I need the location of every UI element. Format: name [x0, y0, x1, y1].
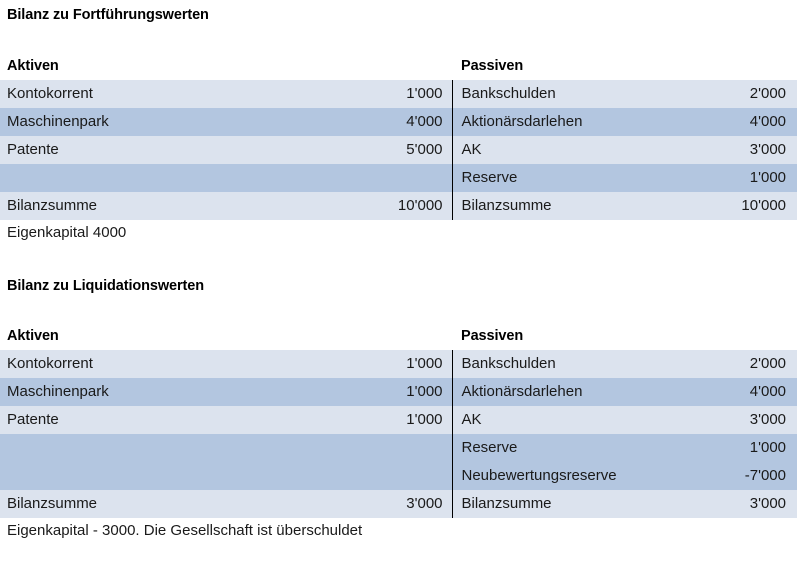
asset-label: Patente: [0, 136, 340, 164]
liability-label: Aktionärsdarlehen: [452, 378, 682, 406]
liability-value: 2'000: [682, 80, 797, 108]
assets-total-label: Bilanzsumme: [0, 192, 340, 220]
asset-value: 1'000: [340, 378, 452, 406]
section-1-title-gap: [0, 23, 797, 53]
liability-label: Aktionärsdarlehen: [452, 108, 682, 136]
assets-header-value: [340, 53, 452, 80]
asset-label: [0, 434, 340, 462]
liabilities-header: Passiven: [452, 323, 682, 350]
balance-table-fortfuehrungswerte: Aktiven Passiven Kontokorrent 1'000 Bank…: [0, 53, 797, 220]
liability-label: Bankschulden: [452, 80, 682, 108]
table-header-row: Aktiven Passiven: [0, 323, 797, 350]
liability-value: 3'000: [682, 406, 797, 434]
assets-total-value: 10'000: [340, 192, 452, 220]
table-header-row: Aktiven Passiven: [0, 53, 797, 80]
liability-value: 4'000: [682, 108, 797, 136]
liability-label: Neubewertungsreserve: [452, 462, 682, 490]
assets-header: Aktiven: [0, 323, 340, 350]
table-row: Patente 1'000 AK 3'000: [0, 406, 797, 434]
assets-total-label: Bilanzsumme: [0, 490, 340, 518]
liabilities-total-value: 10'000: [682, 192, 797, 220]
asset-value: [340, 434, 452, 462]
asset-label: Kontokorrent: [0, 350, 340, 378]
liability-label: Reserve: [452, 434, 682, 462]
asset-label: Maschinenpark: [0, 108, 340, 136]
assets-total-value: 3'000: [340, 490, 452, 518]
table-row: Maschinenpark 4'000 Aktionärsdarlehen 4'…: [0, 108, 797, 136]
liability-label: Reserve: [452, 164, 682, 192]
asset-value: [340, 462, 452, 490]
table-total-row: Bilanzsumme 10'000 Bilanzsumme 10'000: [0, 192, 797, 220]
liabilities-header-value: [682, 53, 797, 80]
liabilities-header-value: [682, 323, 797, 350]
asset-label: Patente: [0, 406, 340, 434]
liability-label: Bankschulden: [452, 350, 682, 378]
liability-label: AK: [452, 406, 682, 434]
equity-note-fortfuehrungswerte: Eigenkapital 4000: [0, 220, 797, 245]
asset-value: 1'000: [340, 406, 452, 434]
balance-table-liquidationswerte: Aktiven Passiven Kontokorrent 1'000 Bank…: [0, 323, 797, 518]
asset-label: Maschinenpark: [0, 378, 340, 406]
liabilities-total-label: Bilanzsumme: [452, 490, 682, 518]
asset-label: Kontokorrent: [0, 80, 340, 108]
asset-value: [340, 164, 452, 192]
asset-value: 1'000: [340, 80, 452, 108]
section-title-liquidationswerte: Bilanz zu Liquidationswerten: [0, 279, 797, 294]
asset-value: 1'000: [340, 350, 452, 378]
liability-value: -7'000: [682, 462, 797, 490]
table-row: Neubewertungsreserve -7'000: [0, 462, 797, 490]
liability-value: 4'000: [682, 378, 797, 406]
table-row: Kontokorrent 1'000 Bankschulden 2'000: [0, 80, 797, 108]
balance-sheet-document: Bilanz zu Fortführungswerten Aktiven Pas…: [0, 0, 797, 570]
asset-value: 4'000: [340, 108, 452, 136]
liabilities-header: Passiven: [452, 53, 682, 80]
liabilities-total-value: 3'000: [682, 490, 797, 518]
asset-value: 5'000: [340, 136, 452, 164]
liabilities-total-label: Bilanzsumme: [452, 192, 682, 220]
table-row: Kontokorrent 1'000 Bankschulden 2'000: [0, 350, 797, 378]
section-2-title-gap: [0, 293, 797, 323]
section-gap: [0, 245, 797, 279]
liability-value: 1'000: [682, 164, 797, 192]
liability-label: AK: [452, 136, 682, 164]
table-row: Maschinenpark 1'000 Aktionärsdarlehen 4'…: [0, 378, 797, 406]
asset-label: [0, 462, 340, 490]
section-title-fortfuehrungswerte: Bilanz zu Fortführungswerten: [0, 8, 797, 23]
liability-value: 2'000: [682, 350, 797, 378]
equity-note-liquidationswerte: Eigenkapital - 3000. Die Gesellschaft is…: [0, 518, 797, 543]
asset-label: [0, 164, 340, 192]
assets-header-value: [340, 323, 452, 350]
assets-header: Aktiven: [0, 53, 340, 80]
table-row: Reserve 1'000: [0, 164, 797, 192]
liability-value: 3'000: [682, 136, 797, 164]
table-row: Patente 5'000 AK 3'000: [0, 136, 797, 164]
table-row: Reserve 1'000: [0, 434, 797, 462]
table-total-row: Bilanzsumme 3'000 Bilanzsumme 3'000: [0, 490, 797, 518]
liability-value: 1'000: [682, 434, 797, 462]
